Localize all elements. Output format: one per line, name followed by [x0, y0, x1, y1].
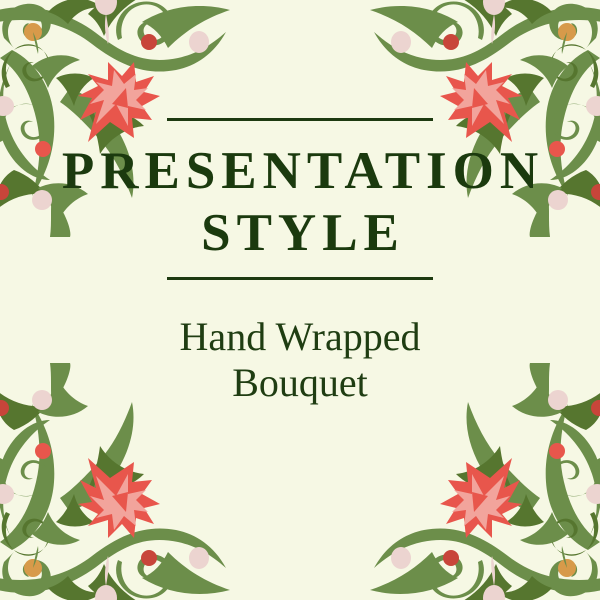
bud-blush-c	[0, 96, 14, 116]
coral-flower	[440, 458, 522, 538]
coral-flower	[78, 458, 160, 538]
scroll-curl-c	[2, 44, 50, 88]
berry-stem	[33, 32, 38, 54]
flower-center	[112, 88, 128, 108]
berries-and-buds	[0, 390, 209, 600]
berry-orange	[24, 23, 42, 41]
page-title-line-2: STYLE	[0, 203, 600, 263]
presentation-style-card: PRESENTATION STYLE Hand Wrapped Bouquet	[0, 0, 600, 600]
subtitle-line-2: Bouquet	[0, 360, 600, 406]
berry-red-a	[141, 34, 157, 50]
scroll-curl-a	[2, 4, 51, 48]
subtitle-line-1: Hand Wrapped	[0, 314, 600, 360]
divider-top	[167, 118, 433, 121]
subtitle: Hand Wrapped Bouquet	[0, 314, 600, 406]
scroll-curl-b	[116, 2, 172, 46]
leaf-blade-a	[142, 6, 230, 48]
leaf-blade-b	[88, 0, 146, 36]
divider-bottom	[167, 277, 433, 280]
page-title-line-1: PRESENTATION	[0, 141, 600, 201]
berries-and-buds	[391, 390, 600, 600]
bud-stem-a	[105, 14, 109, 44]
text-block: PRESENTATION STYLE Hand Wrapped Bouquet	[0, 118, 600, 406]
bud-blush-a	[95, 0, 117, 15]
leaf-blade-i	[32, 55, 80, 88]
leaf-blade-h	[56, 74, 94, 107]
leaf-stem-top	[0, 7, 226, 71]
leaf-blade-c	[48, 0, 102, 24]
bud-blush-b	[189, 31, 209, 53]
